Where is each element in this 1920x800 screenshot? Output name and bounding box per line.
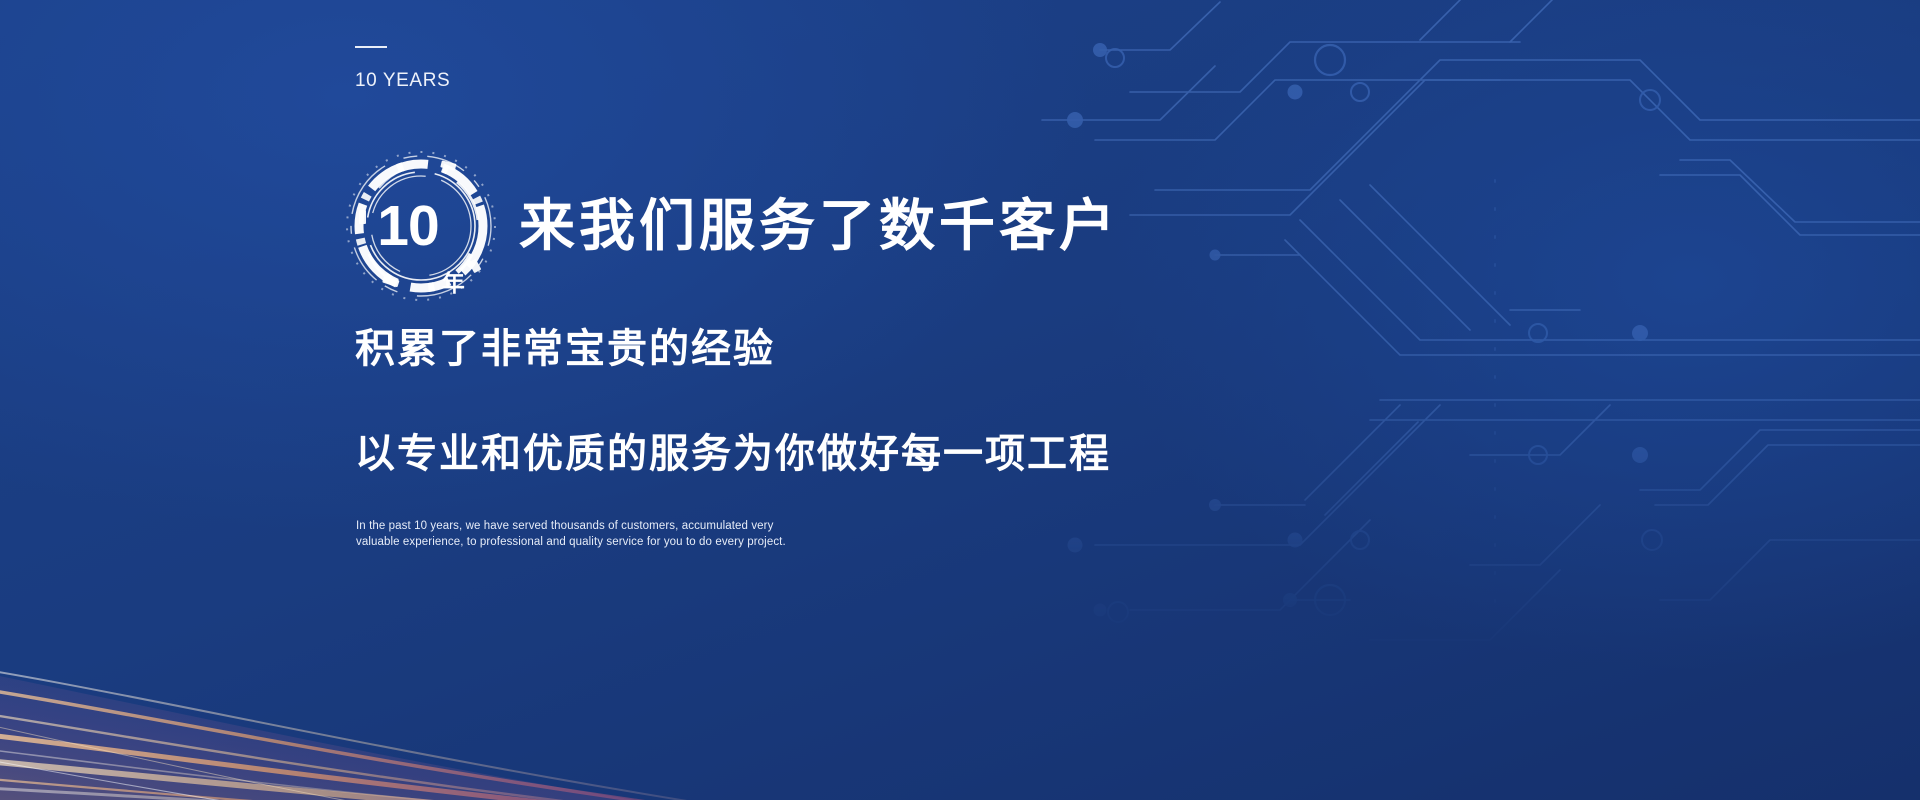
banner-content: 10 YEARS	[355, 0, 1555, 800]
badge-number: 10	[377, 198, 438, 255]
badge-unit: 年	[442, 272, 465, 302]
badge-text-group: 10 年	[345, 150, 497, 302]
english-description: In the past 10 years, we have served tho…	[356, 519, 786, 550]
subline-two: 以专业和优质的服务为你做好每一项工程	[355, 430, 1111, 478]
subline-one: 积累了非常宝贵的经验	[355, 325, 775, 373]
hero-banner: 10 YEARS	[0, 0, 1920, 800]
headline-row: 10 年 来我们服务了数千客户	[345, 150, 1119, 302]
headline-text: 来我们服务了数千客户	[519, 198, 1119, 254]
anniversary-badge: 10 年	[345, 150, 497, 302]
divider-rule	[355, 46, 387, 48]
eyebrow-label: 10 YEARS	[355, 70, 450, 92]
